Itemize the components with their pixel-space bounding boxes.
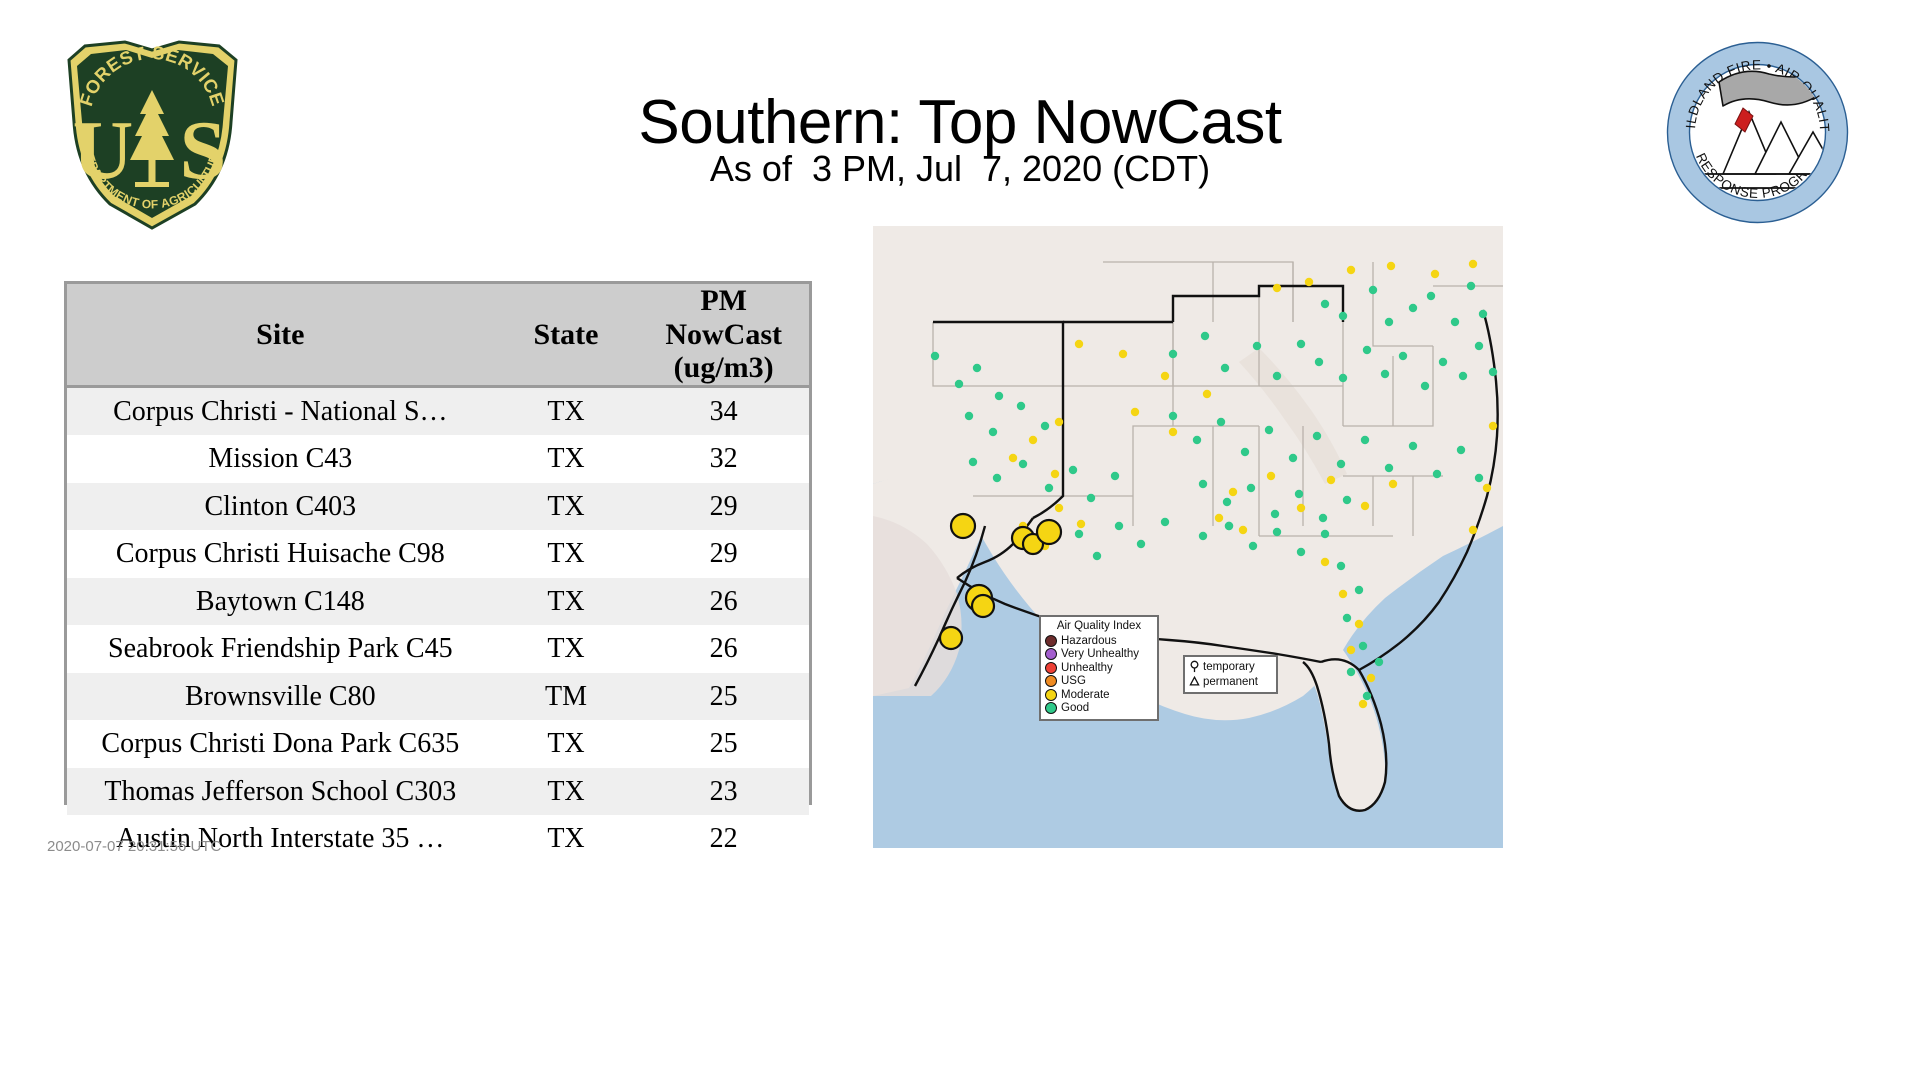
map-monitor-dot[interactable] [1305,278,1313,286]
cell-pm-nowcast: 25 [638,720,809,768]
cell-site: Baytown C148 [67,578,494,626]
map-monitor-dot[interactable] [1343,614,1351,622]
map-monitor-dot[interactable] [1363,692,1371,700]
table-body: Corpus Christi - National S…TX34Mission … [67,386,809,863]
aqi-legend-row: Very Unhealthy [1045,648,1153,662]
map-monitor-dot[interactable] [1347,668,1355,676]
map-monitor-dot[interactable] [1389,480,1397,488]
map-monitor-dot[interactable] [1069,466,1077,474]
map-monitor-dot[interactable] [1297,340,1305,348]
map-monitor-dot[interactable] [1193,436,1201,444]
map-monitor-dot[interactable] [1221,364,1229,372]
map-monitor-dot[interactable] [1359,700,1367,708]
map-monitor-dot[interactable] [1337,562,1345,570]
map-monitor-dot[interactable] [1297,548,1305,556]
map-monitor-dot[interactable] [1203,390,1211,398]
map-monitor-dot[interactable] [1241,448,1249,456]
column-header-pm-nowcast: PM NowCast (ug/m3) [638,284,809,386]
aqi-swatch-icon [1045,689,1057,701]
map-monitor-dot[interactable] [1321,530,1329,538]
map-monitor-dot[interactable] [1421,382,1429,390]
map-monitor-dot[interactable] [940,627,962,649]
map-monitor-dot[interactable] [1131,408,1139,416]
map-monitor-dot[interactable] [1361,436,1369,444]
map-monitor-dot[interactable] [1475,474,1483,482]
map-monitor-dot[interactable] [1201,332,1209,340]
map-monitor-dot[interactable] [1439,358,1447,366]
map-monitor-dot[interactable] [955,380,963,388]
map-monitor-dot[interactable] [1029,436,1037,444]
map-monitor-dot[interactable] [1161,372,1169,380]
map-monitor-dot[interactable] [1367,674,1375,682]
map-monitor-dot[interactable] [1433,470,1441,478]
map-monitor-dot[interactable] [1385,318,1393,326]
map-monitor-dot[interactable] [1381,370,1389,378]
cell-pm-nowcast: 29 [638,530,809,578]
cell-pm-nowcast: 22 [638,815,809,863]
legend-label-permanent: permanent [1203,676,1258,688]
aqi-legend-label: Very Unhealthy [1061,648,1139,660]
cell-state: TM [494,673,639,721]
map-monitor-dot[interactable] [1355,586,1363,594]
map-monitor-dot[interactable] [1273,284,1281,292]
map-monitor-dot[interactable] [1315,358,1323,366]
cell-site: Corpus Christi Dona Park C635 [67,720,494,768]
cell-site: Seabrook Friendship Park C45 [67,625,494,673]
aqi-legend-label: Good [1061,702,1089,714]
map-monitor-dot[interactable] [1355,620,1363,628]
cell-state: TX [494,530,639,578]
map-monitor-dot[interactable] [1075,530,1083,538]
aqi-legend-title: Air Quality Index [1045,620,1153,632]
cell-state: TX [494,386,639,435]
aqi-legend-row: Hazardous [1045,634,1153,648]
aqi-swatch-icon [1045,662,1057,674]
map-monitor-dot[interactable] [1339,374,1347,382]
map-monitor-dot[interactable] [1087,494,1095,502]
map-monitor-dot[interactable] [1337,460,1345,468]
map-monitor-dot[interactable] [1215,514,1223,522]
map-monitor-dot[interactable] [1111,472,1119,480]
map-monitor-dot[interactable] [1483,484,1491,492]
map-monitor-dot[interactable] [1273,372,1281,380]
legend-label-temporary: temporary [1203,661,1255,673]
map-monitor-dot[interactable] [1399,352,1407,360]
map-monitor-dot[interactable] [1249,542,1257,550]
aqi-legend-row: Moderate [1045,688,1153,702]
table-header-row: Site State PM NowCast (ug/m3) [67,284,809,386]
column-header-pm-line3: (ug/m3) [642,351,805,385]
generated-timestamp: 2020-07-07 20:31:56 UTC [47,838,221,855]
cell-state: TX [494,578,639,626]
map-monitor-dot[interactable] [1339,590,1347,598]
map-monitor-dot[interactable] [1055,418,1063,426]
table-row[interactable]: Corpus Christi Dona Park C635TX25 [67,720,809,768]
map-monitor-dot[interactable] [1223,498,1231,506]
map-monitor-dot[interactable] [1055,504,1063,512]
cell-state: TX [494,815,639,863]
column-header-site: Site [67,284,494,386]
cell-site: Corpus Christi Huisache C98 [67,530,494,578]
map-monitor-dot[interactable] [1017,402,1025,410]
aqi-legend-label: USG [1061,675,1086,687]
table-row[interactable]: Baytown C148TX26 [67,578,809,626]
map-monitor-dot[interactable] [1077,520,1085,528]
map-monitor-dot[interactable] [1369,286,1377,294]
map-monitor-dot[interactable] [1169,412,1177,420]
map-monitor-dot[interactable] [1169,428,1177,436]
map-monitor-dot[interactable] [1327,476,1335,484]
map-monitor-dot[interactable] [1037,520,1061,544]
aqi-legend-row: Good [1045,702,1153,716]
map-monitor-dot[interactable] [993,474,1001,482]
map-monitor-dot[interactable] [1363,346,1371,354]
legend-row-temporary: temporary [1188,659,1272,674]
map-monitor-dot[interactable] [1431,270,1439,278]
map-monitor-dot[interactable] [1273,528,1281,536]
cell-state: TX [494,720,639,768]
map-monitor-dot[interactable] [1339,312,1347,320]
table-row[interactable]: Brownsville C80TM25 [67,673,809,721]
cell-pm-nowcast: 25 [638,673,809,721]
aqi-legend-label: Hazardous [1061,635,1117,647]
column-header-pm-line1: PM [642,284,805,318]
aqi-swatch-icon [1045,648,1057,660]
map-monitor-dot[interactable] [1247,484,1255,492]
map-monitor-dot[interactable] [1239,526,1247,534]
cell-state: TX [494,435,639,483]
cell-pm-nowcast: 32 [638,435,809,483]
aqi-legend-label: Moderate [1061,689,1110,701]
map-monitor-dot[interactable] [1169,350,1177,358]
cell-site: Corpus Christi - National S… [67,386,494,435]
column-header-state: State [494,284,639,386]
aqi-swatch-icon [1045,675,1057,687]
temporary-monitor-icon [1188,660,1201,673]
map-monitor-dot[interactable] [969,458,977,466]
map-monitor-dot[interactable] [1199,532,1207,540]
cell-pm-nowcast: 34 [638,386,809,435]
top-nowcast-table: Site State PM NowCast (ug/m3) Corpus Chr… [67,284,809,863]
map-monitor-dot[interactable] [1009,454,1017,462]
table-row[interactable]: Thomas Jefferson School C303TX23 [67,768,809,816]
cell-site: Mission C43 [67,435,494,483]
map-monitor-dot[interactable] [1409,304,1417,312]
map-monitor-dot[interactable] [1451,318,1459,326]
air-quality-index-legend: Air Quality Index HazardousVery Unhealth… [1039,615,1159,721]
cell-pm-nowcast: 26 [638,578,809,626]
map-monitor-dot[interactable] [1217,418,1225,426]
top-nowcast-table-panel: Site State PM NowCast (ug/m3) Corpus Chr… [64,281,812,805]
aqi-legend-row: USG [1045,675,1153,689]
map-monitor-dot[interactable] [1469,526,1477,534]
map-monitor-dot[interactable] [1409,442,1417,450]
legend-row-permanent: permanent [1188,674,1272,689]
map-monitor-dot[interactable] [1051,470,1059,478]
map-monitor-dot[interactable] [1271,510,1279,518]
wildland-fire-air-quality-logo: WILDLAND FIRE • AIR QUALITY RESPONSE PRO… [1665,40,1850,225]
map-monitor-dot[interactable] [1075,340,1083,348]
map-monitor-dot[interactable] [1295,490,1303,498]
map-monitor-dot[interactable] [1343,496,1351,504]
map-monitor-dot[interactable] [1427,292,1435,300]
table-row[interactable]: Mission C43TX32 [67,435,809,483]
table-row[interactable]: Corpus Christi Huisache C98TX29 [67,530,809,578]
map-monitor-dot[interactable] [1297,504,1305,512]
cell-site: Brownsville C80 [67,673,494,721]
column-header-pm-line2: NowCast [642,318,805,352]
cell-state: TX [494,625,639,673]
map-monitor-dot[interactable] [931,352,939,360]
aqi-legend-label: Unhealthy [1061,662,1113,674]
map-monitor-dot[interactable] [995,392,1003,400]
map-monitor-dot[interactable] [1041,422,1049,430]
cell-pm-nowcast: 26 [638,625,809,673]
monitor-type-legend: temporary permanent [1183,655,1278,694]
map-monitor-dot[interactable] [1119,350,1127,358]
permanent-monitor-icon [1188,675,1201,688]
us-forest-service-shield-logo: FOREST SERVICE U S DEPARTMENT OF AGRICUL… [55,32,250,232]
southern-region-monitor-map[interactable] [873,226,1503,848]
aqi-swatch-icon [1045,635,1057,647]
map-monitor-dot[interactable] [1137,540,1145,548]
map-monitor-dot[interactable] [1265,426,1273,434]
cell-site: Thomas Jefferson School C303 [67,768,494,816]
cell-site: Clinton C403 [67,483,494,531]
map-monitor-dot[interactable] [1361,502,1369,510]
map-monitor-dot[interactable] [1161,518,1169,526]
table-row[interactable]: Corpus Christi - National S…TX34 [67,386,809,435]
map-monitor-dot[interactable] [1385,464,1393,472]
map-monitor-dot[interactable] [1479,310,1487,318]
map-canvas[interactable] [873,226,1503,848]
page-title: Southern: Top NowCast [260,90,1660,155]
cell-pm-nowcast: 29 [638,483,809,531]
map-monitor-dot[interactable] [1321,558,1329,566]
map-monitor-dot[interactable] [1045,484,1053,492]
map-monitor-dot[interactable] [1459,372,1467,380]
map-monitor-dot[interactable] [1199,480,1207,488]
table-row[interactable]: Clinton C403TX29 [67,483,809,531]
map-monitor-dot[interactable] [1489,422,1497,430]
map-monitor-dot[interactable] [1489,368,1497,376]
map-monitor-dot[interactable] [1375,658,1383,666]
map-monitor-dot[interactable] [1313,432,1321,440]
cell-pm-nowcast: 23 [638,768,809,816]
map-monitor-dot[interactable] [1225,522,1233,530]
page-subtitle: As of 3 PM, Jul 7, 2020 (CDT) [260,148,1660,190]
map-monitor-dot[interactable] [1359,642,1367,650]
map-monitor-dot[interactable] [1387,262,1395,270]
aqi-swatch-icon [1045,702,1057,714]
map-monitor-dot[interactable] [1115,522,1123,530]
map-monitor-dot[interactable] [1347,266,1355,274]
map-monitor-dot[interactable] [965,412,973,420]
map-monitor-dot[interactable] [1289,454,1297,462]
map-monitor-dot[interactable] [972,595,994,617]
table-row[interactable]: Seabrook Friendship Park C45TX26 [67,625,809,673]
map-monitor-dot[interactable] [1019,460,1027,468]
map-monitor-dot[interactable] [1467,282,1475,290]
map-monitor-dot[interactable] [1475,342,1483,350]
map-monitor-dot[interactable] [951,514,975,538]
map-monitor-dot[interactable] [1321,300,1329,308]
map-monitor-dot[interactable] [1229,488,1237,496]
map-monitor-dot[interactable] [1457,446,1465,454]
map-monitor-dot[interactable] [989,428,997,436]
map-monitor-dot[interactable] [1253,342,1261,350]
map-monitor-dot[interactable] [1319,514,1327,522]
map-monitor-dot[interactable] [973,364,981,372]
map-monitor-dot[interactable] [1093,552,1101,560]
cell-state: TX [494,768,639,816]
map-monitor-dot[interactable] [1347,646,1355,654]
map-monitor-dot[interactable] [1469,260,1477,268]
cell-state: TX [494,483,639,531]
aqi-legend-row: Unhealthy [1045,661,1153,675]
map-monitor-dot[interactable] [1267,472,1275,480]
